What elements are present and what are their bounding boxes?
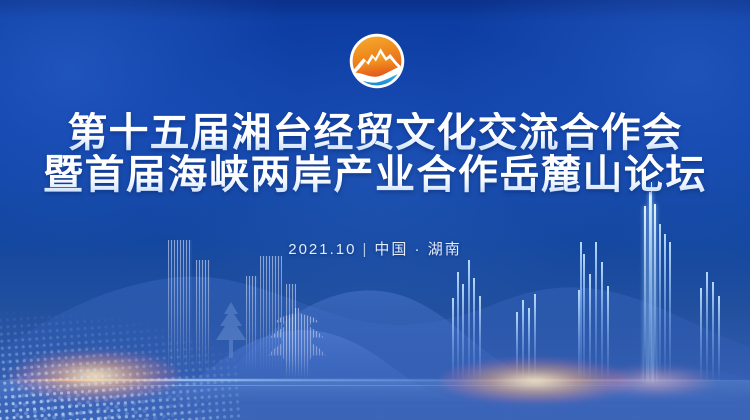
skyline-bar-15 [706, 272, 708, 382]
skyline-bar-8 [583, 254, 585, 382]
skyline-bar-17 [718, 296, 720, 382]
skyline-bar-9 [589, 274, 591, 382]
skyline-bar-2 [457, 272, 459, 382]
skyline-bar-18 [516, 312, 518, 382]
landmark-tower-spire [651, 182, 652, 382]
skyline-bar-1 [452, 298, 454, 382]
title-block: 第十五届湘台经贸文化交流合作会 暨首届海峡两岸产业合作岳麓山论坛 [0, 112, 750, 197]
skyline-bar-3 [462, 284, 464, 382]
skyline-bar-5 [473, 278, 475, 382]
skyline-bar-10 [595, 242, 597, 382]
skyline-bar-21 [534, 294, 536, 382]
landmark-tower-core-a [644, 206, 646, 382]
skyline-bar-6 [479, 296, 481, 382]
title-line-2: 暨首届海峡两岸产业合作岳麓山论坛 [0, 154, 750, 196]
mountain-water-circle-logo [348, 32, 406, 90]
conference-banner: 第十五届湘台经贸文化交流合作会 暨首届海峡两岸产业合作岳麓山论坛 2021.10… [0, 0, 750, 420]
subtitle-block: 2021.10|中国 · 湖南 [0, 238, 750, 259]
landmark-tower-side-c [669, 242, 671, 382]
event-location: 中国 · 湖南 [374, 241, 461, 258]
landmark-tower-core-c [654, 204, 656, 382]
skyline-bar-16 [712, 282, 714, 382]
skyline-bar-14 [700, 288, 702, 382]
skyline-bar-4 [468, 260, 470, 382]
title-line-1: 第十五届湘台经贸文化交流合作会 [0, 112, 750, 154]
subtitle-separator: | [362, 241, 368, 258]
skyline-bar-11 [601, 262, 603, 382]
event-date: 2021.10 [288, 241, 356, 258]
skyline-bar-19 [522, 300, 524, 382]
landmark-tower-core-b [649, 192, 651, 382]
skyline-bar-13 [580, 242, 582, 382]
skyline-bar-20 [528, 308, 530, 382]
skyline-bar-12 [607, 286, 609, 382]
